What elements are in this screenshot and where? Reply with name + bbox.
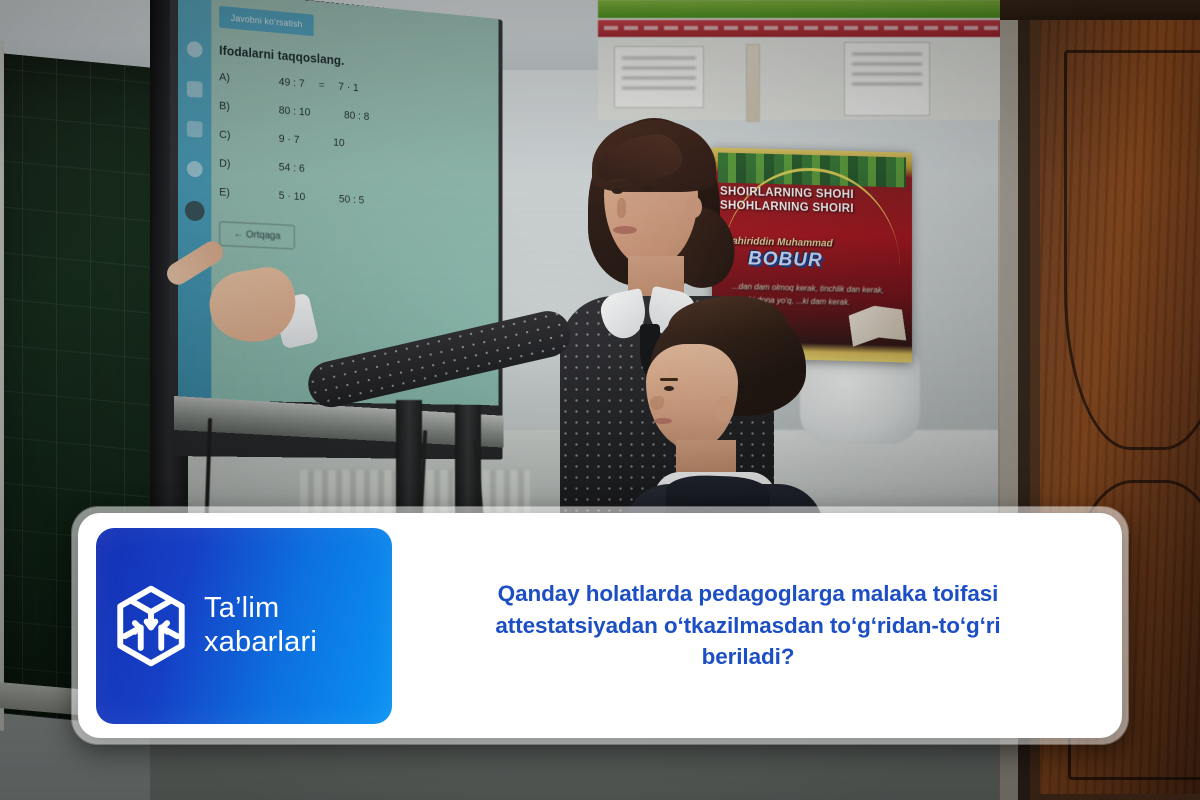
arrow-left-icon: ← <box>234 229 244 240</box>
student-hair-top <box>668 296 788 336</box>
back-button-label: Ortqaga <box>246 229 281 242</box>
bulletin-text-lines <box>622 57 696 97</box>
bulletin-board <box>598 0 1010 120</box>
task-row-operator <box>320 114 335 115</box>
task-row-operator: = <box>314 79 329 92</box>
task-row: C) 9 · 7 10 <box>219 129 490 159</box>
task-row-operator <box>314 170 329 171</box>
bulletin-green-band <box>598 0 1010 18</box>
task-row-left: E) <box>219 186 269 201</box>
brand-name-line2: xabarlari <box>204 626 317 658</box>
teacher-mouth <box>613 226 637 234</box>
headline: Qanday holatlarda pedagoglarga malaka to… <box>392 578 1104 674</box>
task-row: E) 5 · 10 50 : 5 <box>219 186 490 213</box>
teacher-eye <box>642 186 653 192</box>
door-top-trim <box>1000 0 1200 20</box>
bulletin-sheet <box>614 46 704 108</box>
brand-name: Ta’lim xabarlari <box>204 592 317 658</box>
student-ear <box>714 396 734 422</box>
task-row-expr-right: 7 · 1 <box>338 81 358 94</box>
task-row-expr-right: 10 <box>333 137 344 149</box>
teacher-eye <box>612 188 623 194</box>
student-nose <box>650 396 664 410</box>
task-row-expr-left: 54 : 6 <box>279 161 305 174</box>
bulletin-red-band <box>598 20 1010 37</box>
headline-line-2: attestatsiyadan o‘tkazilmasdan to‘g‘rida… <box>418 610 1078 642</box>
screenshot-root: Javobni ko‘rsatish Ifodalarni taqqoslang… <box>0 0 1200 800</box>
task-row-left: D) <box>219 158 269 173</box>
layers-icon[interactable] <box>187 121 203 138</box>
bulletin-sheet <box>844 42 930 116</box>
task-row-expr-right: 50 : 5 <box>339 193 364 206</box>
book-icon[interactable] <box>187 81 203 98</box>
task-row-left: C) <box>219 129 269 144</box>
student-eye <box>664 386 674 391</box>
task-row-operator <box>309 141 324 142</box>
task-row-expr-left: 5 · 10 <box>279 190 306 203</box>
task-row-expr-right: 80 : 8 <box>344 110 369 123</box>
task-row: B) 80 : 10 80 : 8 <box>219 100 490 132</box>
student-eyebrow <box>660 378 678 381</box>
task-row-expr-left: 49 : 7 <box>279 76 305 90</box>
avatar-icon[interactable] <box>185 200 205 221</box>
smart-board-toolbar[interactable] <box>178 0 211 401</box>
brand-name-line1: Ta’lim <box>204 592 279 624</box>
task-row: D) 54 : 6 <box>219 158 490 187</box>
task-row-left: B) <box>219 100 269 116</box>
smart-board-content: Javobni ko‘rsatish Ifodalarni taqqoslang… <box>219 6 490 259</box>
student-mouth <box>654 418 672 424</box>
headline-line-1: Qanday holatlarda pedagoglarga malaka to… <box>418 578 1078 610</box>
task-rows: A) 49 : 7 = 7 · 1 B) 80 : 10 80 : 8 <box>219 71 490 213</box>
cursor-icon[interactable] <box>187 161 203 178</box>
task-row-operator <box>315 198 330 199</box>
teacher-ear <box>686 196 702 218</box>
task-row-expr-left: 9 · 7 <box>279 133 300 146</box>
back-button[interactable]: ← Ortqaga <box>219 221 295 249</box>
door-panel <box>1064 50 1200 450</box>
hexagon-cube-arrows-icon <box>114 585 188 667</box>
bulletin-text-lines <box>852 53 922 93</box>
task-row-left: A) <box>219 71 269 87</box>
caption-card: Ta’lim xabarlari Qanday holatlarda pedag… <box>78 513 1122 738</box>
teacher-nose <box>617 198 626 218</box>
info-icon[interactable] <box>187 41 203 58</box>
task-row-expr-left: 80 : 10 <box>279 105 311 119</box>
brand-logo-tile[interactable]: Ta’lim xabarlari <box>96 528 392 724</box>
show-answer-button[interactable]: Javobni ko‘rsatish <box>219 6 314 36</box>
chalkboard-frame <box>0 39 4 731</box>
headline-line-3: beriladi? <box>418 641 1078 673</box>
